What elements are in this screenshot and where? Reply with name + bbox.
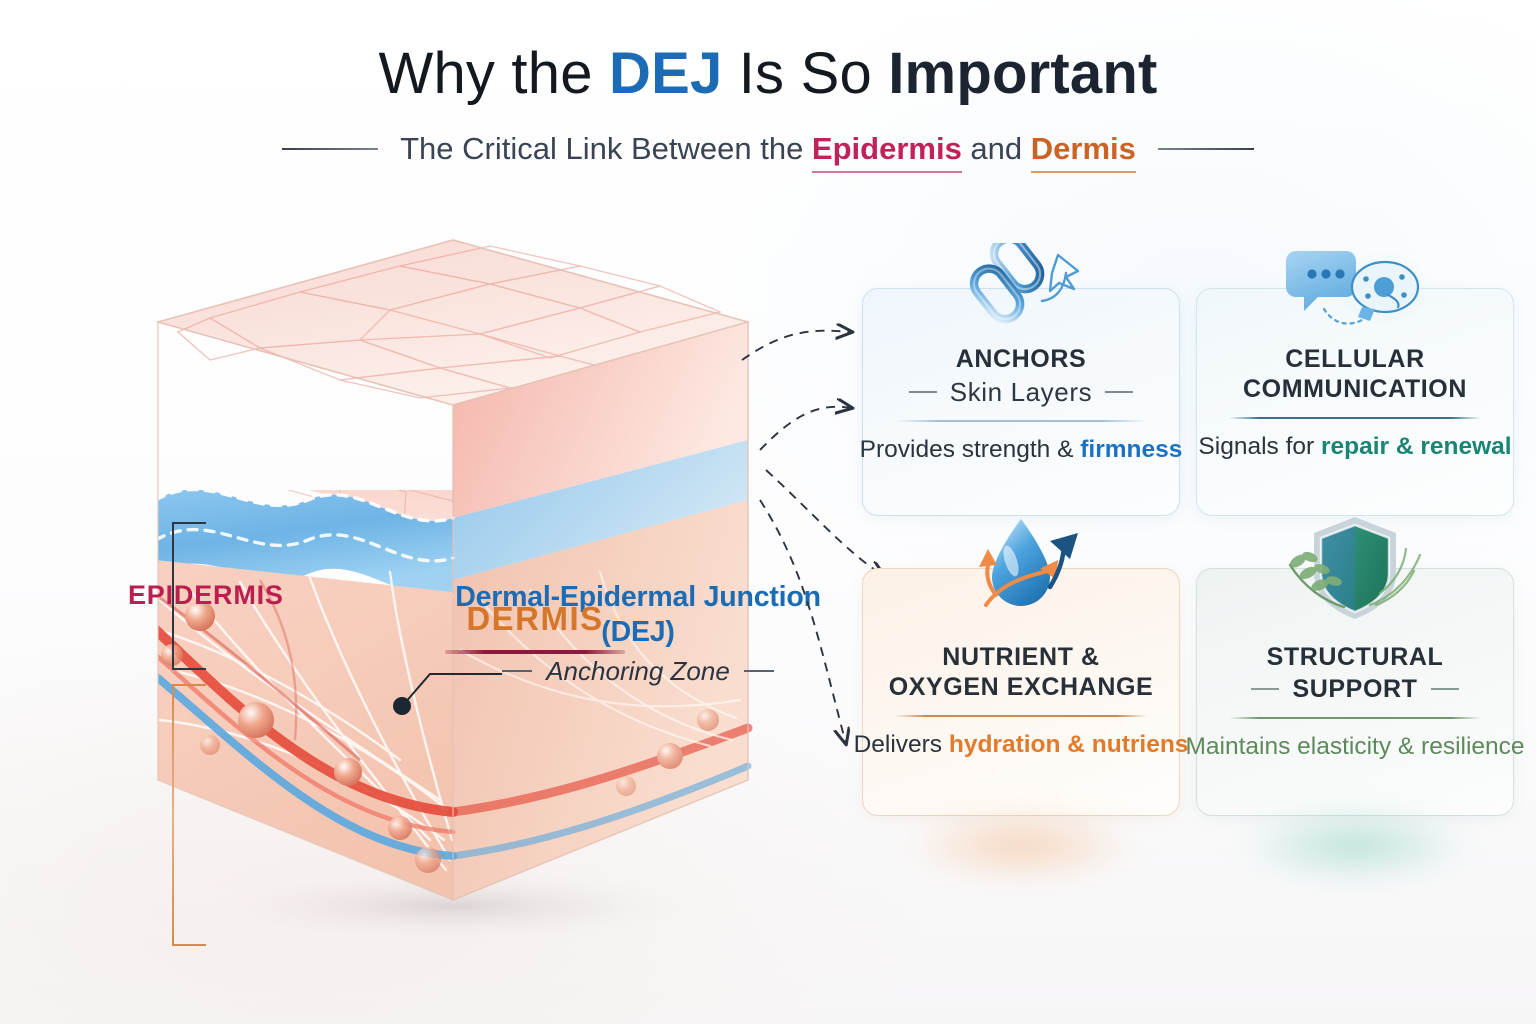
subtitle-rule-left bbox=[282, 148, 378, 150]
card-structural-dash-left bbox=[1251, 688, 1279, 690]
subtitle-and: and bbox=[962, 131, 1031, 166]
card-cellular-communication[interactable]: CELLULAR COMMUNICATION Signals for repai… bbox=[1196, 288, 1514, 516]
card-anchors-sub-prefix: Provides strength & bbox=[860, 436, 1081, 463]
title-important: Important bbox=[888, 41, 1157, 106]
card-nutrient-title-line1: NUTRIENT & bbox=[889, 643, 1154, 673]
card-anchors-subtitle: Provides strength & firmness bbox=[860, 436, 1183, 464]
infographic-canvas: Why the DEJ Is So Important The Critical… bbox=[0, 0, 1536, 1024]
card-anchors-title-line1: ANCHORS bbox=[909, 345, 1133, 375]
card-nutrient-sub-prefix: Delivers bbox=[854, 731, 949, 758]
card-cellular-subtitle: Signals for repair & renewal bbox=[1198, 433, 1511, 461]
card-structural-divider bbox=[1229, 717, 1480, 719]
card-structural-title: STRUCTURAL SUPPORT bbox=[1251, 643, 1458, 704]
card-nutrient-subtitle: Delivers hydration & nutriens bbox=[854, 731, 1189, 759]
subtitle-row: The Critical Link Between the Epidermis … bbox=[0, 131, 1536, 167]
card-cellular-title-line2: COMMUNICATION bbox=[1243, 375, 1467, 405]
dermis-label-group: DERMIS bbox=[390, 600, 680, 654]
card-structural-subtitle: Maintains elasticity & resilience bbox=[1185, 733, 1524, 761]
subtitle: The Critical Link Between the Epidermis … bbox=[400, 131, 1136, 167]
dermis-bracket bbox=[172, 684, 206, 946]
dermis-label: DERMIS bbox=[390, 600, 680, 638]
card-anchors-dash-left bbox=[909, 391, 937, 393]
subtitle-epidermis: Epidermis bbox=[812, 131, 962, 173]
card-structural-glow bbox=[1240, 817, 1470, 873]
card-nutrient-title: NUTRIENT & OXYGEN EXCHANGE bbox=[889, 643, 1154, 702]
card-cellular-divider bbox=[1229, 417, 1480, 419]
feature-card-grid: ANCHORS Skin Layers Provides strength & … bbox=[862, 288, 1514, 840]
dej-dash-right bbox=[744, 670, 774, 672]
card-nutrient-title-line2: OXYGEN EXCHANGE bbox=[889, 673, 1154, 703]
subtitle-dermis: Dermis bbox=[1031, 131, 1136, 173]
shield-laurel-icon bbox=[1280, 513, 1430, 637]
card-anchors[interactable]: ANCHORS Skin Layers Provides strength & … bbox=[862, 288, 1180, 516]
epidermis-label: EPIDERMIS bbox=[128, 580, 284, 611]
card-nutrient-sub-highlight: hydration & nutriens bbox=[949, 731, 1189, 758]
card-nutrient-glow bbox=[906, 817, 1136, 873]
subtitle-prefix: The Critical Link Between the bbox=[400, 131, 812, 166]
card-anchors-dash-right bbox=[1105, 391, 1133, 393]
dej-subtitle: Anchoring Zone bbox=[546, 656, 730, 687]
chain-link-icon bbox=[946, 243, 1096, 347]
header: Why the DEJ Is So Important The Critical… bbox=[0, 44, 1536, 167]
card-cellular-sub-prefix: Signals for bbox=[1198, 433, 1321, 460]
skin-cross-section-diagram: EPIDERMIS Dermal-Epidermal Junction (DEJ… bbox=[60, 200, 860, 960]
card-anchors-sub-highlight: firmness bbox=[1080, 436, 1182, 463]
card-nutrient-divider bbox=[895, 715, 1146, 717]
title-text-part1: Why the bbox=[379, 41, 609, 106]
title-dej: DEJ bbox=[609, 41, 722, 106]
dermis-underline bbox=[445, 650, 625, 654]
card-cellular-title: CELLULAR COMMUNICATION bbox=[1243, 345, 1467, 404]
card-structural-dash-right bbox=[1431, 688, 1459, 690]
subtitle-rule-right bbox=[1158, 148, 1254, 150]
card-structural-support[interactable]: STRUCTURAL SUPPORT Maintains elasticity … bbox=[1196, 568, 1514, 816]
title-text-part2: Is So bbox=[722, 41, 888, 106]
card-anchors-title: ANCHORS Skin Layers bbox=[909, 345, 1133, 407]
card-anchors-divider bbox=[895, 420, 1146, 422]
card-cellular-sub-highlight: repair & renewal bbox=[1321, 433, 1512, 460]
card-anchors-title-line2: Skin Layers bbox=[950, 377, 1092, 408]
card-structural-title-line1: STRUCTURAL bbox=[1251, 643, 1458, 673]
page-title: Why the DEJ Is So Important bbox=[0, 44, 1536, 105]
water-drop-arrows-icon bbox=[946, 513, 1096, 637]
card-structural-title-line2: SUPPORT bbox=[1292, 675, 1417, 705]
speech-bubble-cell-icon bbox=[1280, 243, 1430, 347]
card-cellular-title-line1: CELLULAR bbox=[1243, 345, 1467, 375]
card-nutrient-oxygen-exchange[interactable]: NUTRIENT & OXYGEN EXCHANGE Delivers hydr… bbox=[862, 568, 1180, 816]
